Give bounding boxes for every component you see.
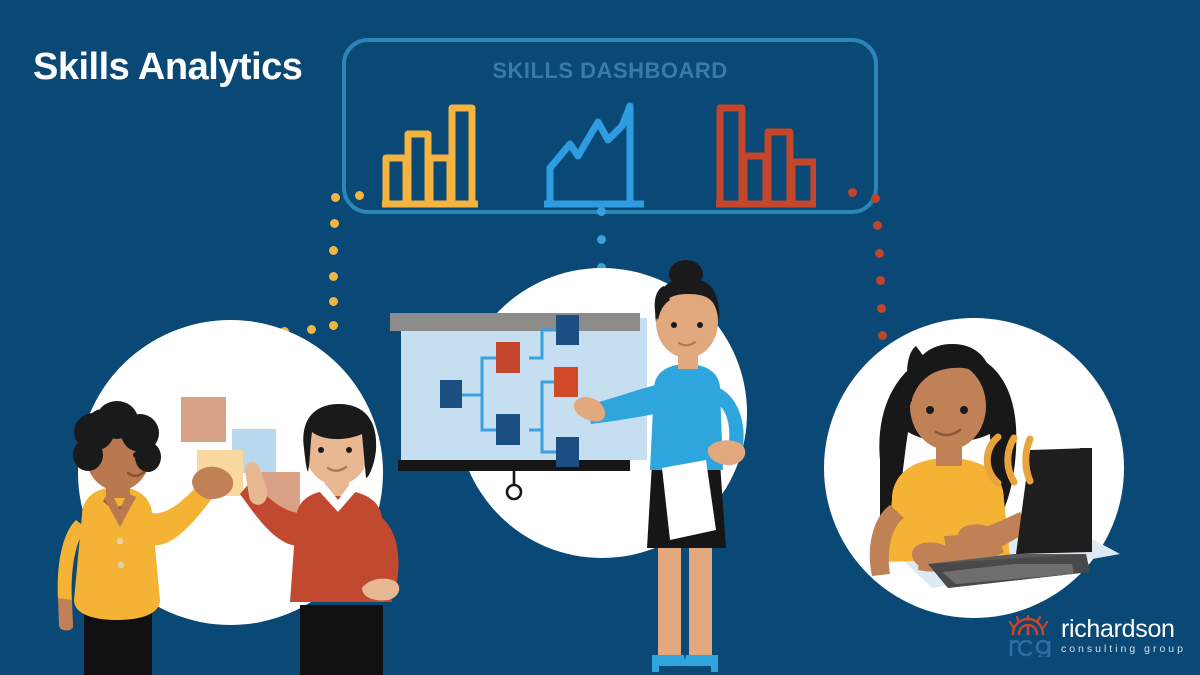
sticky-note-salmon-1 — [181, 397, 226, 442]
scene-presentation — [390, 0, 810, 675]
scene-laptop — [824, 300, 1154, 640]
rcg-logo-mark — [1006, 615, 1052, 657]
scene-sticky-notes — [0, 0, 420, 675]
org-node-red-2 — [554, 367, 578, 397]
org-node-blue-1 — [496, 414, 520, 445]
logo-tagline: consulting group — [1061, 644, 1186, 655]
logo-wordmark: richardson — [1061, 617, 1186, 642]
org-node-blue-3 — [556, 437, 579, 467]
slide-canvas: Skills Analytics SKILLS DASHBOARD — [0, 0, 1200, 675]
org-node-root — [440, 380, 462, 408]
logo-text: richardson consulting group — [1061, 617, 1186, 655]
org-node-red-1 — [496, 342, 520, 373]
richardson-logo[interactable]: richardson consulting group — [1006, 615, 1186, 657]
org-node-blue-2 — [556, 315, 579, 345]
woman-yellow-top — [58, 401, 234, 675]
